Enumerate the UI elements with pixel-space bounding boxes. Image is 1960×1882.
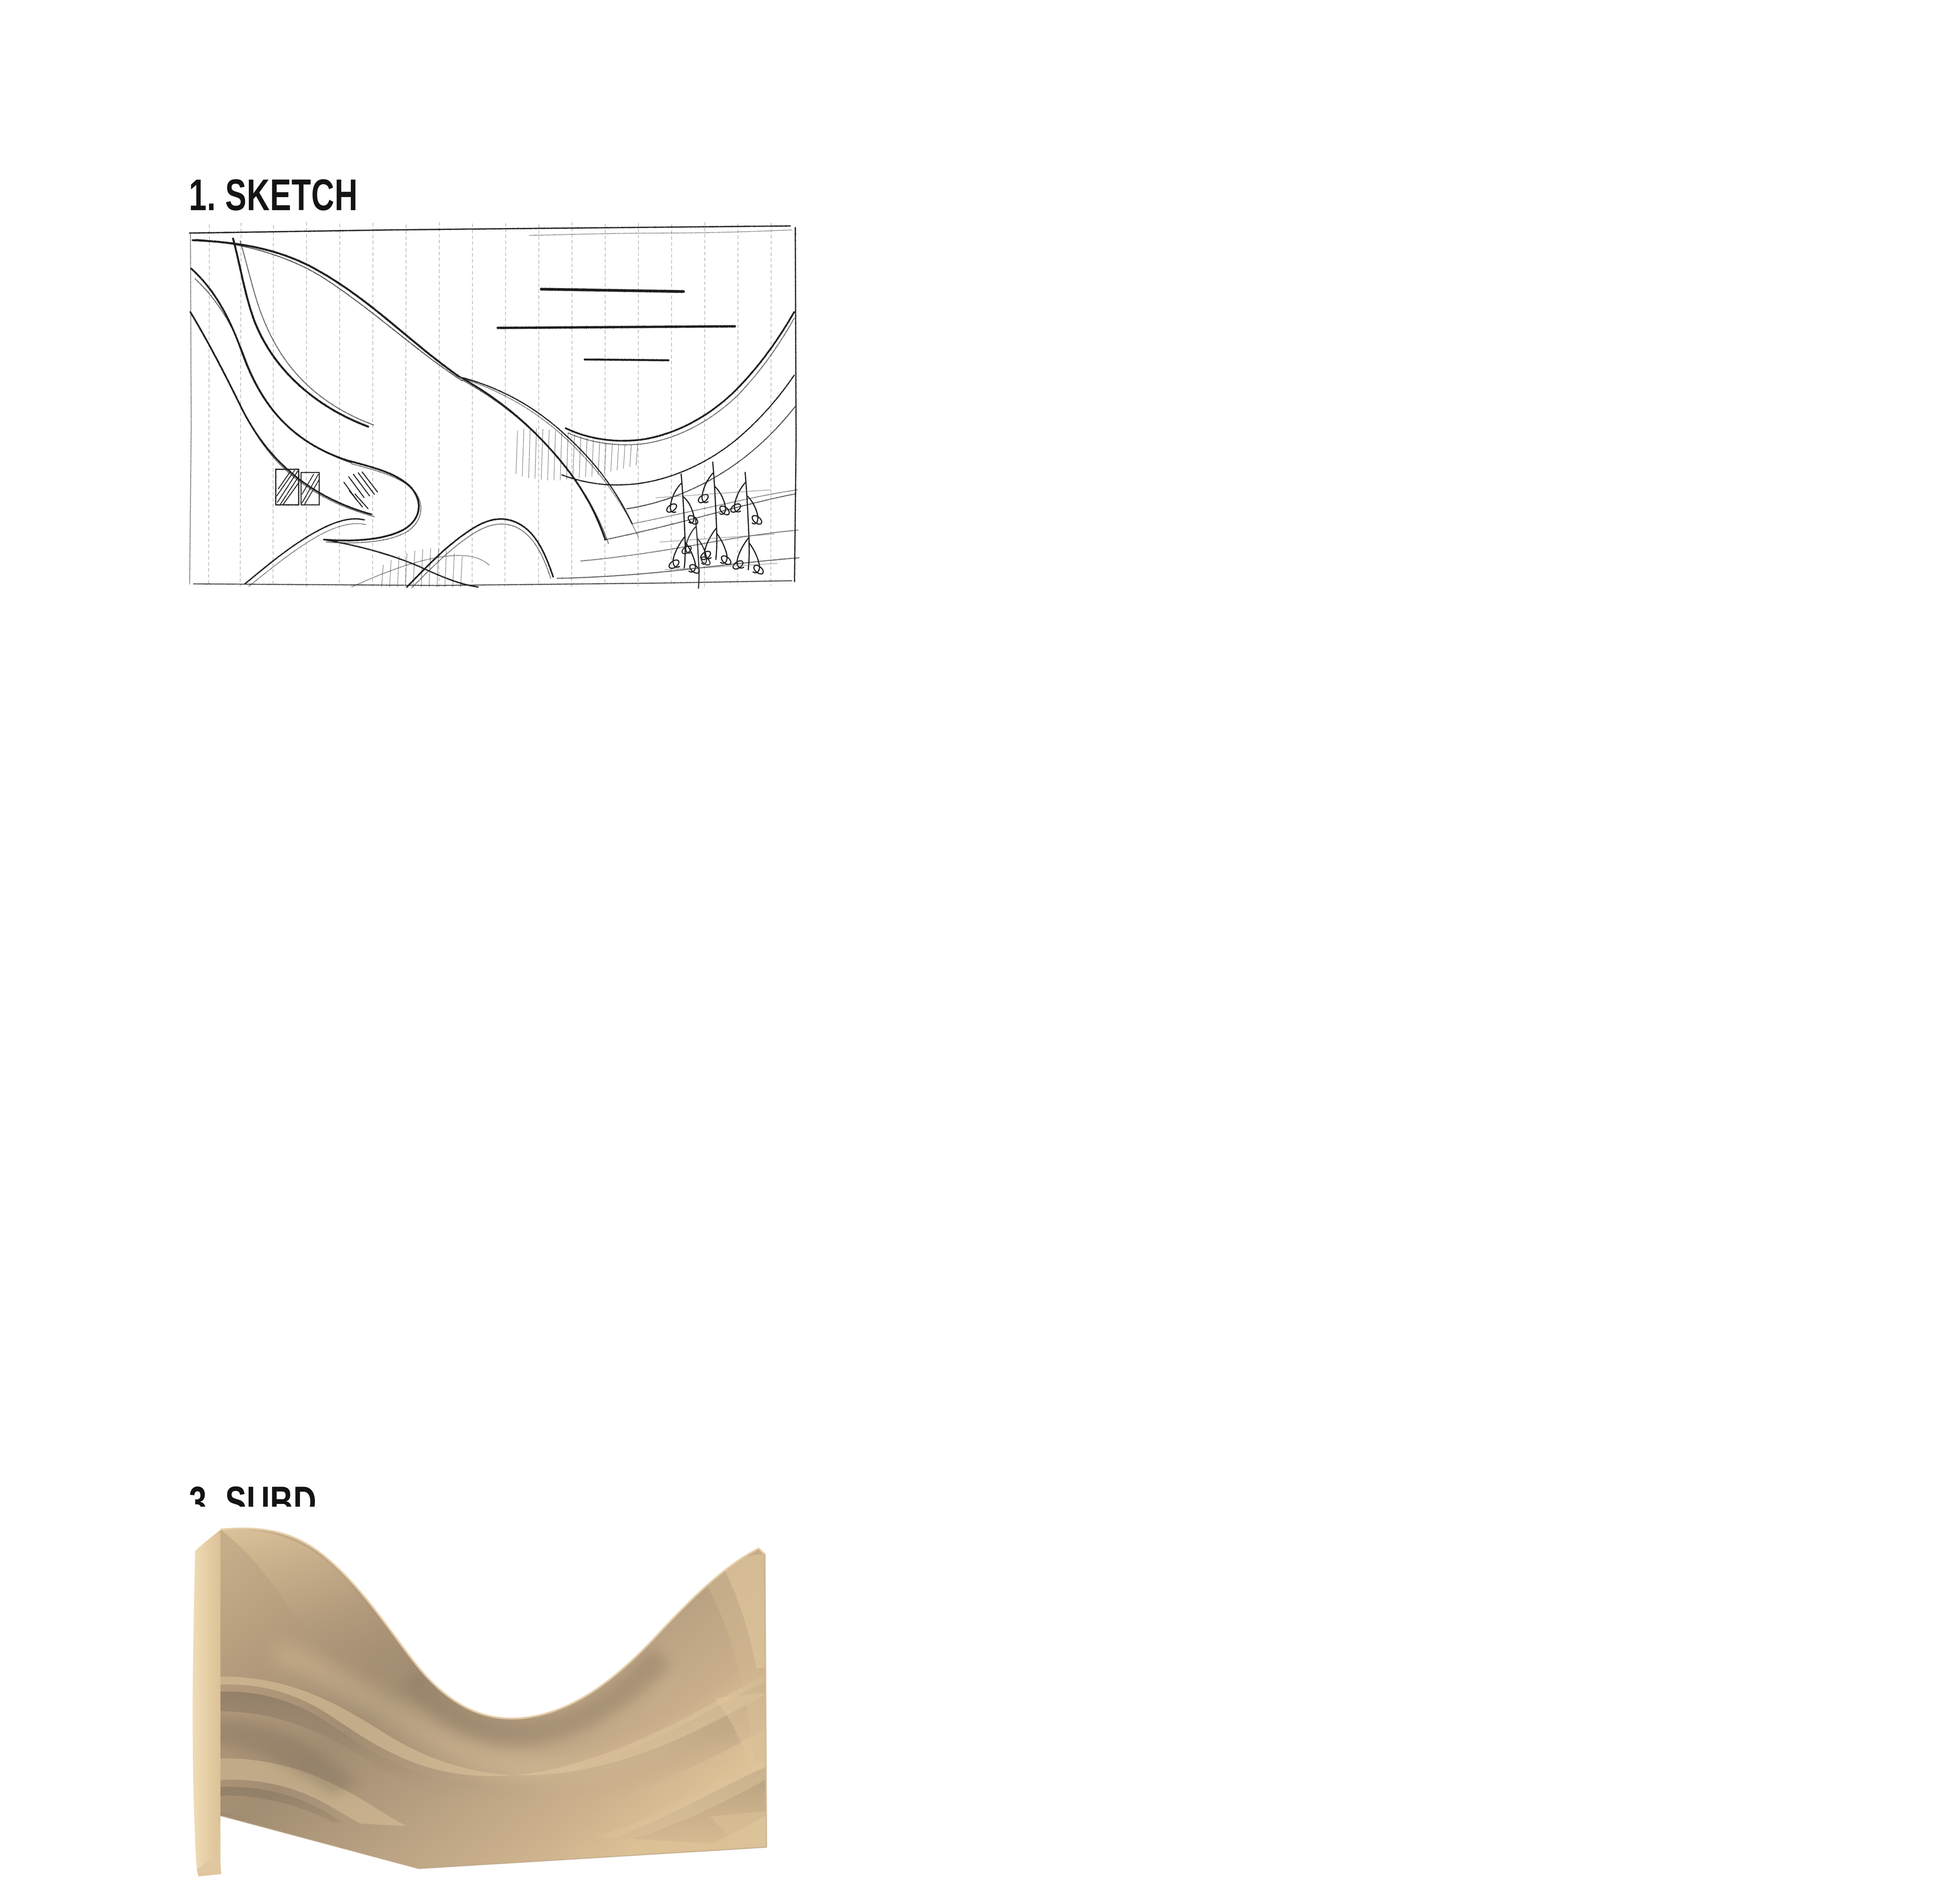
page-canvas: 1. SKETCH bbox=[0, 0, 1960, 1386]
panel-contouring: 4. CONTOURING bbox=[980, 693, 1960, 1386]
panel-sketch: 1. SKETCH bbox=[0, 0, 980, 693]
sketch-svg bbox=[186, 221, 802, 589]
sketch-background bbox=[186, 221, 802, 589]
sketch-artwork bbox=[186, 221, 802, 589]
panel-title-sketch: 1. SKETCH bbox=[189, 173, 358, 217]
subd-artwork bbox=[174, 1507, 822, 1878]
panel-subd: 3. SUBD bbox=[0, 693, 980, 1386]
subd-svg bbox=[174, 1507, 822, 1878]
subd-side-slab bbox=[192, 1530, 220, 1869]
panel-edge-loops: 2. DEFINE EDGE LOOPS bbox=[980, 0, 1960, 693]
